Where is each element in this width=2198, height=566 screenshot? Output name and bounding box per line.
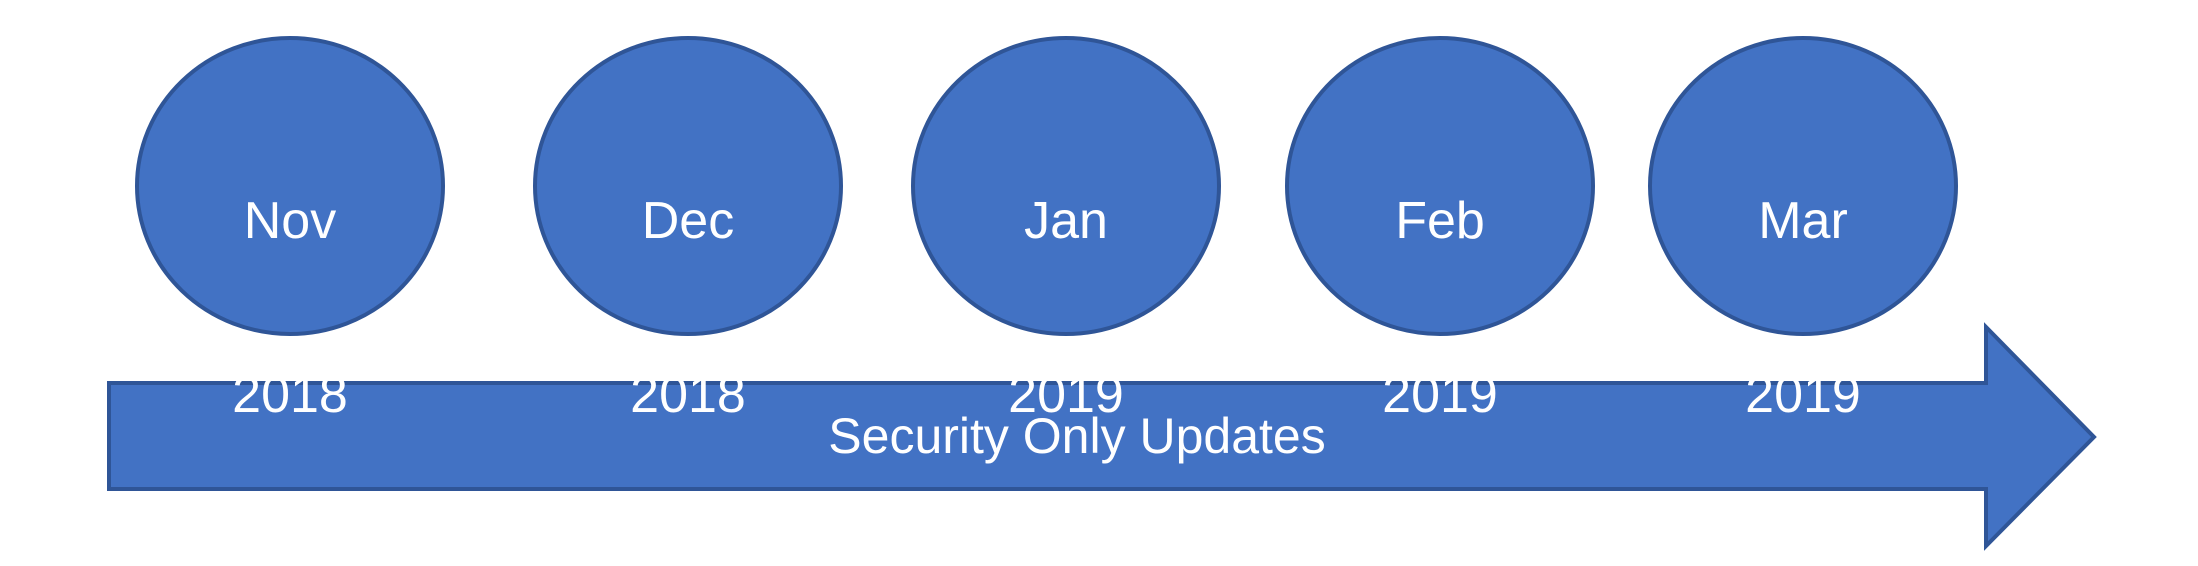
timeline-canvas <box>0 0 2198 566</box>
timeline-node-dec-2018[interactable] <box>535 38 841 334</box>
arrow-label-security-only-updates: Security Only Updates <box>727 408 1427 464</box>
timeline-node-nov-2018[interactable] <box>137 38 443 334</box>
timeline-node-feb-2019[interactable] <box>1287 38 1593 334</box>
timeline-diagram: Nov 2018 Dec 2018 Jan 2019 Feb 2019 Mar … <box>0 0 2198 566</box>
timeline-node-jan-2019[interactable] <box>913 38 1219 334</box>
timeline-node-mar-2019[interactable] <box>1650 38 1956 334</box>
